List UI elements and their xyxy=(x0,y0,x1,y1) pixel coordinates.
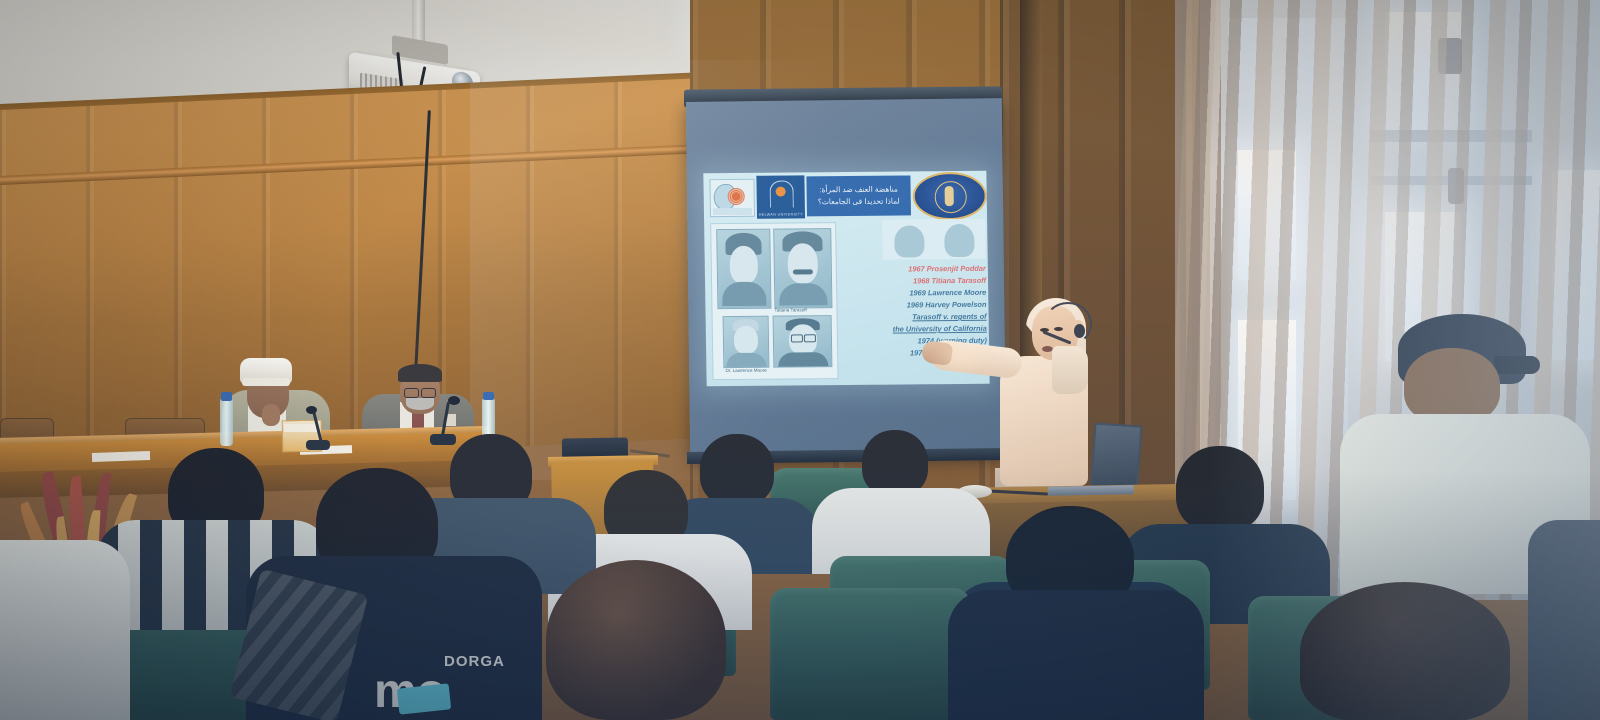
bottle-cap xyxy=(483,392,494,400)
audience-head-curly xyxy=(1300,582,1510,720)
panelist-glasses-lens xyxy=(404,388,419,398)
bottle-cap xyxy=(221,392,232,401)
panelist-glasses-lens xyxy=(421,388,436,398)
audience-head xyxy=(700,434,774,506)
laptop-keyboard-base[interactable] xyxy=(1048,485,1134,495)
table-microphone-head xyxy=(448,396,460,405)
presenter-hijab-drape xyxy=(1052,346,1088,394)
audience-shoulders xyxy=(1528,520,1600,720)
panelist-turban-hand xyxy=(262,404,280,426)
panelist-suit-hair xyxy=(398,364,442,382)
pointing-hand-glare xyxy=(930,340,990,376)
photo-scene: HELWAN UNIVERSITY مناهضة العنف ضد المرأة… xyxy=(0,0,1600,720)
audience-head xyxy=(1404,348,1500,424)
table-microphone-head xyxy=(306,406,317,414)
table-microphone-base xyxy=(306,440,330,450)
audience-head xyxy=(1176,446,1264,532)
baseball-cap-brim xyxy=(1494,356,1540,374)
audience-shoulders xyxy=(0,540,130,720)
auditorium-seat[interactable] xyxy=(770,588,970,720)
water-bottle xyxy=(220,398,233,446)
panelist-suit-beard xyxy=(406,398,434,410)
headset-microphone-earcup xyxy=(1074,324,1085,338)
tshirt-tag xyxy=(397,683,451,714)
panelist-cap-band xyxy=(242,378,290,386)
audience-shoulders xyxy=(948,590,1204,720)
tissue-box-label xyxy=(284,424,318,432)
table-microphone-base xyxy=(430,434,456,445)
audience-head xyxy=(862,430,928,496)
projector-light-beam xyxy=(470,60,1030,480)
audience-head-curly xyxy=(546,560,726,720)
